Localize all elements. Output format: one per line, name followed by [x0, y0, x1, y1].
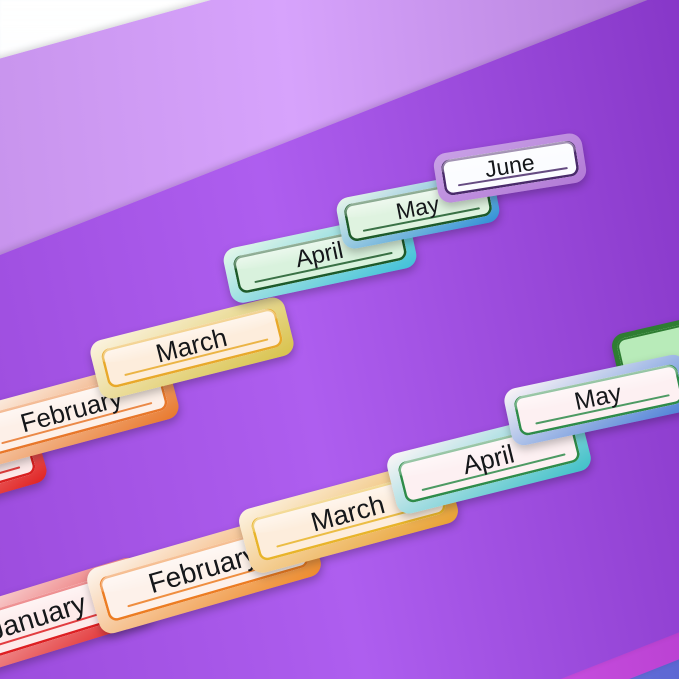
label-tab-text: January — [0, 587, 89, 647]
label-tab-text: April — [459, 438, 517, 481]
label-tab-text: March — [153, 322, 231, 370]
label-tab-text: June — [483, 148, 536, 182]
label-tab-text: May — [571, 378, 623, 416]
label-tab-text: April — [293, 237, 346, 274]
label-tab-text: May — [394, 190, 442, 225]
label-tab-text: February — [145, 538, 262, 600]
label-tab-text: March — [307, 489, 387, 538]
product-image: JuneMayAprilMarchFebruaryJanuaryMayApril… — [0, 0, 679, 679]
